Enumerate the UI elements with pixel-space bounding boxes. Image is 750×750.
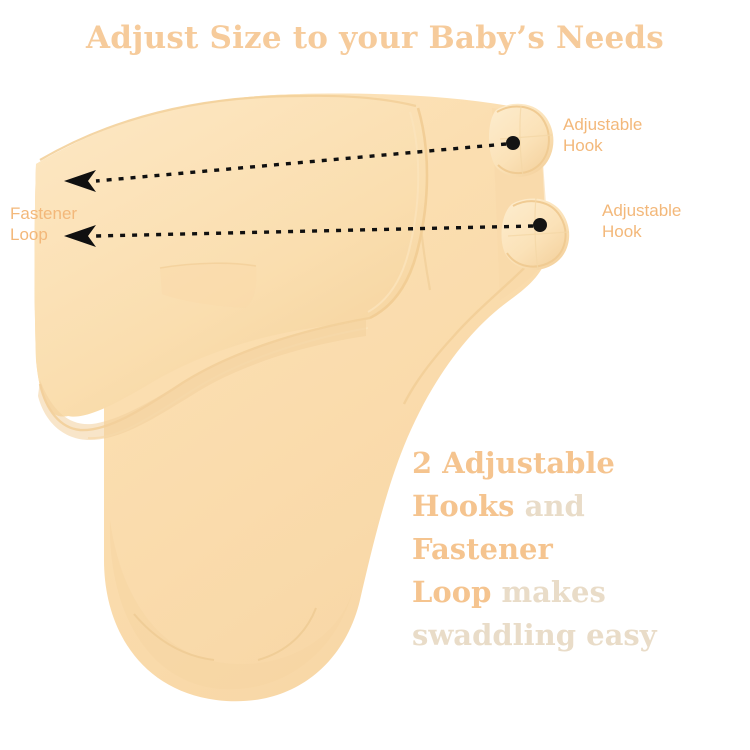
promo-line-4: Loop makes — [412, 571, 742, 614]
promo-line-3-highlight: Fastener — [412, 532, 553, 566]
adjustable-hook-bottom[interactable] — [501, 198, 569, 270]
infographic-page: Adjust Size to your Baby’s Needs — [0, 0, 750, 750]
promo-line-2-plain: and — [515, 489, 585, 523]
hook-dot-top — [506, 136, 520, 150]
hook-dot-bottom — [533, 218, 547, 232]
promo-line-2-highlight: Hooks — [412, 489, 515, 523]
promo-line-1-highlight: 2 Adjustable — [412, 446, 615, 480]
promo-text-block: 2 Adjustable Hooks and Fastener Loop mak… — [412, 442, 742, 657]
callout-adjustable-hook-top: Adjustable Hook — [563, 114, 642, 156]
promo-line-2: Hooks and — [412, 485, 742, 528]
promo-line-4-highlight: Loop — [412, 575, 491, 609]
callout-adjustable-hook-bottom: Adjustable Hook — [602, 200, 681, 242]
callout-fastener-loop: Fastener Loop — [10, 203, 77, 245]
adjustable-hook-top[interactable] — [489, 104, 553, 177]
promo-line-3: Fastener — [412, 528, 742, 571]
promo-line-1: 2 Adjustable — [412, 442, 742, 485]
promo-line-5-plain: swaddling easy — [412, 618, 657, 652]
promo-line-5: swaddling easy — [412, 614, 742, 657]
promo-line-4-plain: makes — [491, 575, 605, 609]
